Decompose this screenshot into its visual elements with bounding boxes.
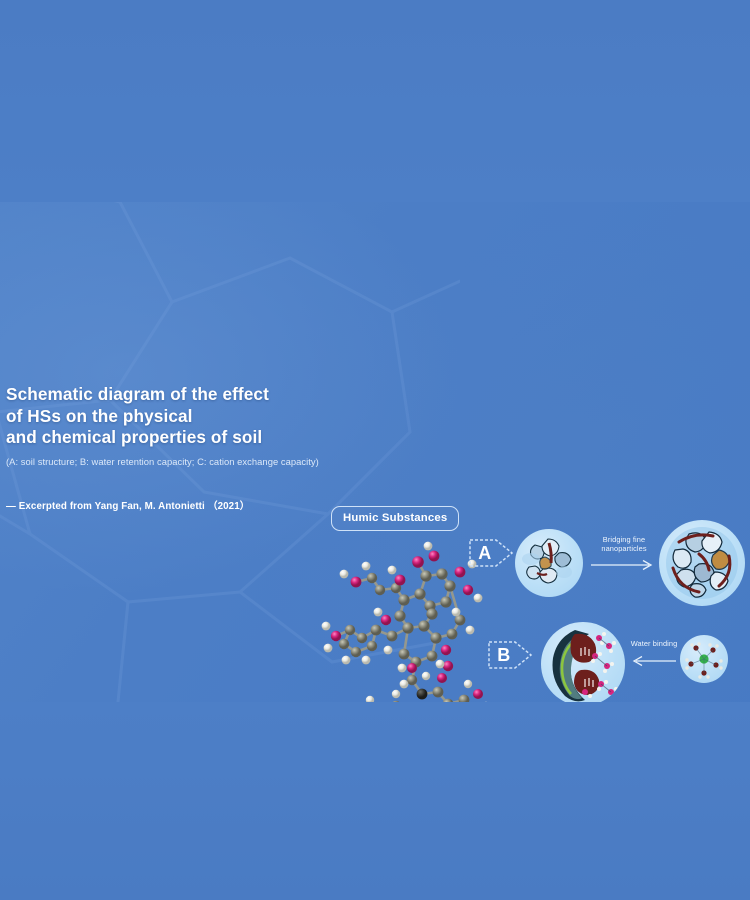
- page-title-line-1: Schematic diagram of the effect: [6, 384, 346, 406]
- page-title-line-2: of HSs on the physical: [6, 406, 346, 428]
- hydrated-cation-circle: [680, 635, 728, 683]
- row-a-caption: Bridging fine nanoparticles: [579, 535, 669, 553]
- soil-aggregate-before-circle: [515, 529, 583, 597]
- page-title-line-3: and chemical properties of soil: [6, 427, 346, 449]
- water-retention-circle: [541, 622, 625, 702]
- row-a-caption-line-2: nanoparticles: [579, 544, 669, 553]
- row-b-caption: Water binding: [622, 639, 686, 648]
- row-a-caption-line-1: Bridging fine: [579, 535, 669, 544]
- page-subtitle: (A: soil structure; B: water retention c…: [6, 456, 346, 468]
- arrow-right-icon: [589, 558, 657, 572]
- slide-content-panel: Schematic diagram of the effect of HSs o…: [0, 202, 750, 702]
- arrow-marker-b-icon: B: [487, 634, 533, 676]
- source-attribution: — Excerpted from Yang Fan, M. Antonietti…: [6, 498, 346, 512]
- humic-substances-label: Humic Substances: [331, 506, 459, 531]
- row-b-caption-line-1: Water binding: [622, 639, 686, 648]
- marker-b-letter: B: [491, 634, 517, 676]
- marker-a-letter: A: [472, 532, 498, 574]
- slide-text-block: Schematic diagram of the effect of HSs o…: [6, 384, 346, 512]
- soil-aggregate-after-circle: [659, 520, 745, 606]
- arrow-left-icon: [630, 654, 678, 668]
- slide-image: Schematic diagram of the effect of HSs o…: [0, 0, 750, 900]
- arrow-marker-a-icon: A: [468, 532, 514, 574]
